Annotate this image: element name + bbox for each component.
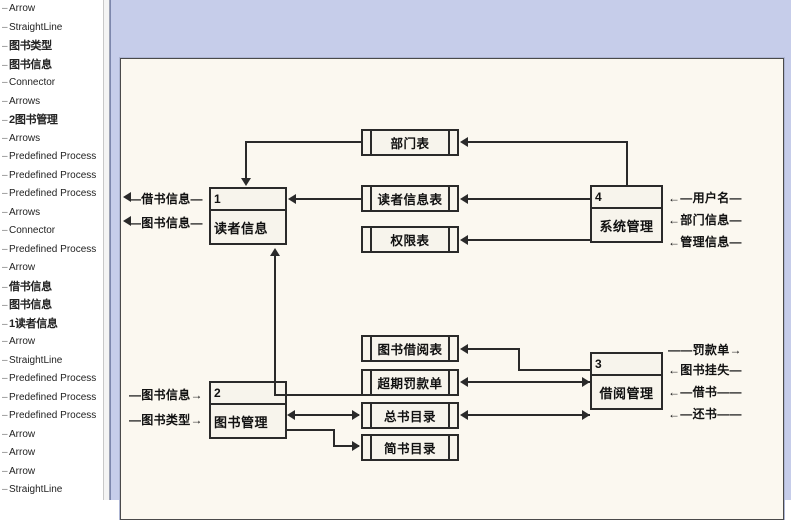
list-tree-dash-icon: – <box>2 0 9 19</box>
list-tree-dash-icon: – <box>2 352 9 371</box>
data-store-超期罚款单[interactable]: 超期罚款单 <box>361 369 459 396</box>
shape-list-item[interactable]: –Predefined Process <box>0 389 103 408</box>
shape-object-list[interactable]: –Arrow–StraightLine–图书类型–图书信息–Connector–… <box>0 0 103 500</box>
shape-list-item[interactable]: –Predefined Process <box>0 370 103 389</box>
data-store-label: 读者信息表 <box>377 189 442 208</box>
shape-list-item-label: StraightLine <box>9 352 62 371</box>
shape-list-item-label: 图书信息 <box>9 296 52 315</box>
shape-list-item-label: StraightLine <box>9 481 62 500</box>
connector-lend-to-lendtable-h1[interactable] <box>467 348 520 350</box>
shape-list-item[interactable]: –Predefined Process <box>0 241 103 260</box>
shape-list-item-label: Predefined Process <box>9 148 96 167</box>
data-store-label: 超期罚款单 <box>377 373 442 392</box>
process-box-1[interactable]: 1 读者信息 <box>209 187 287 245</box>
shape-list-item-label: StraightLine <box>9 19 62 38</box>
flow-label-book-in-1: —图书信息→ <box>129 386 203 403</box>
connector-lend-to-catalog[interactable] <box>467 414 590 416</box>
shape-list-item-label: Arrow <box>9 426 35 445</box>
arrowhead-reader-out-1 <box>123 192 131 202</box>
arrowhead-book-to-brief <box>352 441 360 451</box>
list-tree-dash-icon: – <box>2 407 9 426</box>
connector-sys-to-readertable[interactable] <box>467 198 590 200</box>
shape-list-item[interactable]: –Arrow <box>0 463 103 482</box>
process-3-number: 3 <box>592 354 661 376</box>
flow-label-book-in-2: —图书类型→ <box>129 411 203 428</box>
data-store-label: 权限表 <box>390 230 429 249</box>
process-3-label: 借阅管理 <box>592 376 661 408</box>
shape-list-item-label: 图书信息 <box>9 56 52 75</box>
data-store-label: 总书目录 <box>384 406 436 425</box>
shape-list-item[interactable]: –Arrow <box>0 259 103 278</box>
data-store-label: 图书借阅表 <box>377 339 442 358</box>
list-tree-dash-icon: – <box>2 241 9 260</box>
shape-list-item-label: Arrow <box>9 0 35 19</box>
flow-label-lend-in-1: ——罚款单→ <box>668 341 742 358</box>
process-4-label: 系统管理 <box>592 209 661 241</box>
shape-list-item-label: Arrows <box>9 204 40 223</box>
connector-dept-to-reader-v[interactable] <box>245 141 247 179</box>
shape-list-item-label: Predefined Process <box>9 407 96 426</box>
process-box-4[interactable]: 4 系统管理 <box>590 185 663 243</box>
list-tree-dash-icon: – <box>2 444 9 463</box>
shape-list-item-label: Predefined Process <box>9 167 96 186</box>
list-tree-dash-icon: – <box>2 389 9 408</box>
shape-list-item-label: Arrow <box>9 444 35 463</box>
shape-list-item-label: 1读者信息 <box>9 315 58 334</box>
connector-sys-to-auth[interactable] <box>467 239 590 241</box>
data-store-label: 简书目录 <box>384 438 436 457</box>
list-tree-dash-icon: – <box>2 148 9 167</box>
shape-list-item-label: Predefined Process <box>9 389 96 408</box>
shape-list-item-label: 图书类型 <box>9 37 52 56</box>
flow-label-lend-in-4: ←—还书—— <box>668 405 742 422</box>
arrowhead-lend-to-lendtable <box>460 344 468 354</box>
connector-book-to-brief-h1[interactable] <box>287 429 335 431</box>
shape-list-item[interactable]: –Arrows <box>0 204 103 223</box>
data-store-总书目录[interactable]: 总书目录 <box>361 402 459 429</box>
flow-label-sys-in-2: ←部门信息— <box>668 211 742 228</box>
process-2-label: 图书管理 <box>211 405 285 437</box>
shape-list-item[interactable]: –图书类型 <box>0 37 103 56</box>
list-tree-dash-icon: – <box>2 167 9 186</box>
list-tree-dash-icon: – <box>2 279 9 298</box>
flow-label-reader-out-2: —图书信息— <box>129 214 203 231</box>
diagram-editor-pane[interactable]: 1 读者信息 2 图书管理 3 借阅管理 4 系统管理 部门表 读者信息表 权限… <box>110 0 791 500</box>
arrowhead-sys-to-dept <box>460 137 468 147</box>
shape-list-item-label: Predefined Process <box>9 185 96 204</box>
arrowhead-lend-to-catalog-right <box>582 410 590 420</box>
shape-list-item[interactable]: –Arrow <box>0 426 103 445</box>
arrowhead-readertable-to-reader <box>288 194 296 204</box>
connector-readertable-to-reader[interactable] <box>295 198 361 200</box>
shape-list-item[interactable]: –Predefined Process <box>0 185 103 204</box>
connector-book-to-catalog[interactable] <box>293 414 359 416</box>
list-tree-dash-icon: – <box>2 222 9 241</box>
shape-list-item[interactable]: –Arrow <box>0 0 103 19</box>
flow-label-lend-in-3: ←—借书—— <box>668 383 742 400</box>
list-tree-dash-icon: – <box>2 38 9 57</box>
list-tree-dash-icon: – <box>2 426 9 445</box>
flow-label-sys-in-3: ←管理信息— <box>668 233 742 250</box>
list-tree-dash-icon: – <box>2 204 9 223</box>
shape-list-item-label: Arrows <box>9 130 40 149</box>
list-tree-dash-icon: – <box>2 74 9 93</box>
process-box-3[interactable]: 3 借阅管理 <box>590 352 663 410</box>
arrowhead-dept-to-reader <box>241 178 251 186</box>
arrowhead-book-to-catalog-right <box>352 410 360 420</box>
list-tree-dash-icon: – <box>2 19 9 38</box>
shape-list-item[interactable]: –Arrow <box>0 444 103 463</box>
data-store-简书目录[interactable]: 简书目录 <box>361 434 459 461</box>
shape-list-item-label: 借书信息 <box>9 278 52 297</box>
connector-lend-to-lendtable-v[interactable] <box>518 348 520 371</box>
shape-list-item[interactable]: –Connector <box>0 222 103 241</box>
shape-list-item-label: Predefined Process <box>9 370 96 389</box>
list-tree-dash-icon: – <box>2 112 9 131</box>
arrowhead-sys-to-readertable <box>460 194 468 204</box>
list-tree-dash-icon: – <box>2 481 9 500</box>
connector-dept-to-reader-h[interactable] <box>245 141 361 143</box>
connector-sys-to-dept-h[interactable] <box>467 141 628 143</box>
shape-list-item[interactable]: –Predefined Process <box>0 167 103 186</box>
connector-sys-to-dept-v[interactable] <box>626 141 628 186</box>
arrowhead-reader-out-2 <box>123 216 131 226</box>
shape-list-item-label: Arrow <box>9 333 35 352</box>
shape-list-item[interactable]: –Arrows <box>0 130 103 149</box>
arrowhead-book-to-catalog-left <box>287 410 295 420</box>
shape-list-item[interactable]: –图书信息 <box>0 56 103 75</box>
process-1-number: 1 <box>211 189 285 211</box>
shape-list-item[interactable]: –Arrow <box>0 333 103 352</box>
data-store-图书借阅表[interactable]: 图书借阅表 <box>361 335 459 362</box>
list-tree-dash-icon: – <box>2 297 9 316</box>
shape-list-item-label: Arrow <box>9 463 35 482</box>
shape-list-item[interactable]: –Predefined Process <box>0 148 103 167</box>
shape-list-item-label: Arrow <box>9 259 35 278</box>
arrowhead-sys-to-auth <box>460 235 468 245</box>
arrowhead-lend-to-catalog-left <box>460 410 468 420</box>
list-tree-dash-icon: – <box>2 130 9 149</box>
data-store-label: 部门表 <box>390 133 429 152</box>
shape-list-item[interactable]: –StraightLine <box>0 19 103 38</box>
shape-list-item[interactable]: –Connector <box>0 74 103 93</box>
data-store-权限表[interactable]: 权限表 <box>361 226 459 253</box>
connector-book-to-reader-h[interactable] <box>274 394 361 396</box>
shape-list-item[interactable]: –图书信息 <box>0 296 103 315</box>
shape-list-item[interactable]: –1读者信息 <box>0 315 103 334</box>
flow-label-sys-in-1: ←—用户名— <box>668 189 742 206</box>
list-tree-dash-icon: – <box>2 333 9 352</box>
shape-list-item[interactable]: –Arrows <box>0 93 103 112</box>
shape-list-item-label: 2图书管理 <box>9 111 58 130</box>
shape-list-item[interactable]: –Predefined Process <box>0 407 103 426</box>
diagram-canvas[interactable]: 1 读者信息 2 图书管理 3 借阅管理 4 系统管理 部门表 读者信息表 权限… <box>120 58 784 520</box>
list-tree-dash-icon: – <box>2 370 9 389</box>
flow-label-reader-out-1: —借书信息— <box>129 190 203 207</box>
list-tree-dash-icon: – <box>2 259 9 278</box>
shape-list-item-label: Predefined Process <box>9 241 96 260</box>
shape-list-item[interactable]: –2图书管理 <box>0 111 103 130</box>
arrowhead-lend-to-fine-left <box>460 377 468 387</box>
list-tree-dash-icon: – <box>2 316 9 335</box>
arrowhead-book-to-reader <box>270 248 280 256</box>
shape-list-item[interactable]: –StraightLine <box>0 352 103 371</box>
shape-list-item-label: Connector <box>9 222 55 241</box>
shape-list-item-label: Arrows <box>9 93 40 112</box>
data-store-读者信息表[interactable]: 读者信息表 <box>361 185 459 212</box>
data-store-部门表[interactable]: 部门表 <box>361 129 459 156</box>
connector-lend-to-lendtable-h2[interactable] <box>518 369 591 371</box>
flow-label-lend-in-2: ←图书挂失— <box>668 361 742 378</box>
list-tree-dash-icon: – <box>2 185 9 204</box>
process-1-label: 读者信息 <box>211 211 285 243</box>
list-tree-dash-icon: – <box>2 93 9 112</box>
list-tree-dash-icon: – <box>2 57 9 76</box>
list-tree-dash-icon: – <box>2 463 9 482</box>
shape-list-item[interactable]: –StraightLine <box>0 481 103 500</box>
shape-list-item[interactable]: –借书信息 <box>0 278 103 297</box>
connector-lend-to-fine[interactable] <box>467 381 590 383</box>
process-4-number: 4 <box>592 187 661 209</box>
shape-list-item-label: Connector <box>9 74 55 93</box>
list-splitter[interactable] <box>103 0 110 500</box>
arrowhead-lend-to-fine-right <box>582 377 590 387</box>
connector-book-to-reader-v[interactable] <box>274 255 276 396</box>
